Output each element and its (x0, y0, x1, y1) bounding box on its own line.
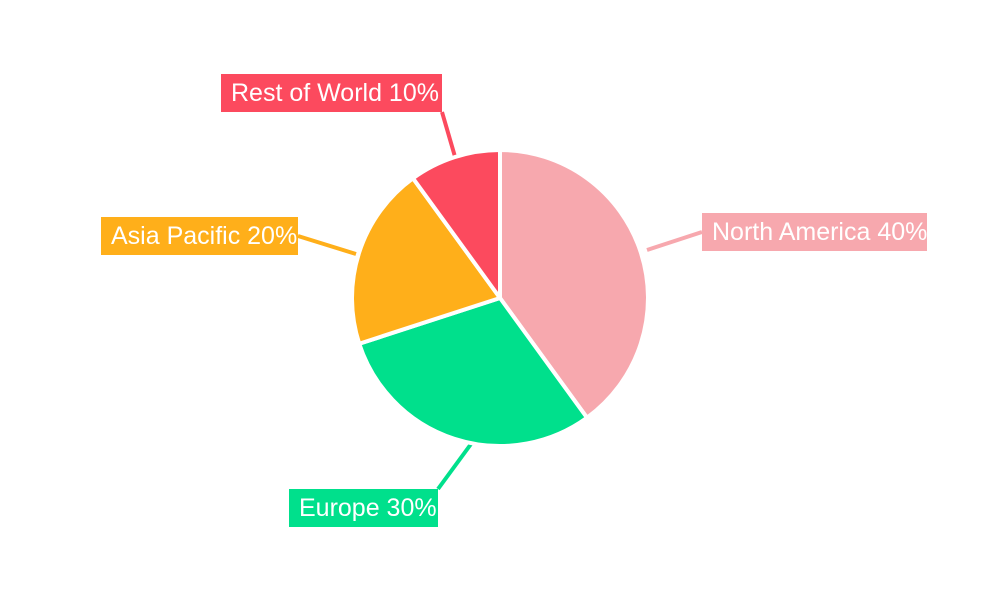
pie-chart (0, 0, 1000, 600)
slice-label-text: North America 40% (712, 220, 927, 245)
leader-line-north-america (647, 232, 702, 250)
slice-label-text: Asia Pacific 20% (111, 224, 297, 249)
slice-label-europe[interactable]: Europe 30% (289, 489, 438, 527)
slice-label-text: Europe 30% (299, 496, 437, 521)
pie-wedges (352, 150, 648, 446)
slice-label-rest-of-world[interactable]: Rest of World 10% (221, 74, 442, 112)
slice-label-north-america[interactable]: North America 40% (702, 213, 927, 251)
leader-line-asia-pacific (298, 236, 356, 254)
leader-line-europe (438, 444, 471, 489)
slice-label-text: Rest of World 10% (231, 81, 439, 106)
chart-canvas: North America 40% Europe 30% Asia Pacifi… (0, 0, 1000, 600)
slice-label-asia-pacific[interactable]: Asia Pacific 20% (101, 217, 298, 255)
